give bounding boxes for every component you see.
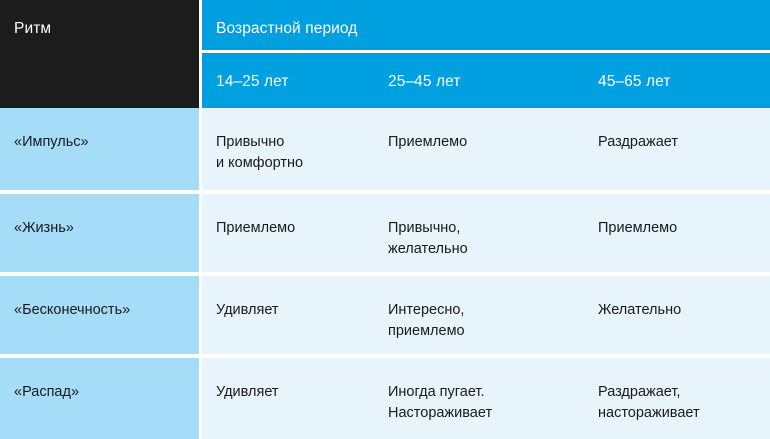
- table-cell: Интересно, приемлемо: [374, 300, 584, 354]
- row-data-group: Удивляет Иногда пугает. Настораживает Ра…: [202, 358, 770, 439]
- row-label-cell: «Жизнь»: [0, 194, 199, 272]
- header-cell-age-25-45: 25–45 лет: [374, 72, 584, 108]
- table-header: Ритм Возрастной период 14–25 лет 25–45 л…: [0, 0, 770, 108]
- row-label-text: «Импульс»: [14, 134, 89, 150]
- table-cell: Привычно и комфортно: [202, 132, 374, 190]
- header-age-columns-row: 14–25 лет 25–45 лет 45–65 лет: [202, 53, 770, 108]
- row-label-text: «Жизнь»: [14, 220, 74, 236]
- table-body: «Импульс» Привычно и комфортно Приемлемо…: [0, 108, 770, 439]
- table-row: «Импульс» Привычно и комфортно Приемлемо…: [0, 108, 770, 190]
- table-cell: Привычно, желательно: [374, 218, 584, 272]
- cell-text: Привычно, желательно: [388, 220, 468, 257]
- table-cell: Удивляет: [202, 382, 374, 439]
- cell-text: Интересно, приемлемо: [388, 302, 465, 339]
- row-label-cell: «Распад»: [0, 358, 199, 439]
- table-row: «Бесконечность» Удивляет Интересно, прие…: [0, 272, 770, 354]
- header-age-group: Возрастной период 14–25 лет 25–45 лет 45…: [202, 0, 770, 108]
- table-row: «Распад» Удивляет Иногда пугает. Настора…: [0, 354, 770, 439]
- row-label-text: «Бесконечность»: [14, 302, 130, 318]
- table-row: «Жизнь» Приемлемо Привычно, желательно П…: [0, 190, 770, 272]
- row-data-group: Удивляет Интересно, приемлемо Желательно: [202, 276, 770, 354]
- row-data-group: Привычно и комфортно Приемлемо Раздражае…: [202, 108, 770, 190]
- table-cell: Приемлемо: [584, 218, 770, 272]
- cell-text: Иногда пугает. Настораживает: [388, 384, 492, 421]
- table-cell: Иногда пугает. Настораживает: [374, 382, 584, 439]
- cell-text: Приемлемо: [216, 220, 295, 236]
- header-age-14-25-label: 14–25 лет: [216, 73, 289, 90]
- table-cell: Удивляет: [202, 300, 374, 354]
- cell-text: Удивляет: [216, 302, 279, 318]
- header-age-group-label: Возрастной период: [216, 20, 357, 37]
- header-age-group-title-row: Возрастной период: [202, 0, 770, 53]
- row-label-cell: «Бесконечность»: [0, 276, 199, 354]
- table-cell: Раздражает, настораживает: [584, 382, 770, 439]
- table-cell: Приемлемо: [202, 218, 374, 272]
- cell-text: Желательно: [598, 302, 681, 318]
- header-rhythm-label: Ритм: [14, 20, 51, 37]
- cell-text: Приемлемо: [388, 134, 467, 150]
- row-data-group: Приемлемо Привычно, желательно Приемлемо: [202, 194, 770, 272]
- header-cell-rhythm: Ритм: [0, 0, 199, 108]
- row-label-text: «Распад»: [14, 384, 79, 400]
- cell-text: Приемлемо: [598, 220, 677, 236]
- header-age-45-65-label: 45–65 лет: [598, 73, 671, 90]
- table-cell: Раздражает: [584, 132, 770, 190]
- table-cell: Приемлемо: [374, 132, 584, 190]
- header-cell-age-14-25: 14–25 лет: [202, 72, 374, 108]
- cell-text: Привычно и комфортно: [216, 134, 303, 171]
- table-cell: Желательно: [584, 300, 770, 354]
- header-age-25-45-label: 25–45 лет: [388, 73, 461, 90]
- comparison-table: Ритм Возрастной период 14–25 лет 25–45 л…: [0, 0, 770, 439]
- cell-text: Удивляет: [216, 384, 279, 400]
- cell-text: Раздражает: [598, 134, 678, 150]
- row-label-cell: «Импульс»: [0, 108, 199, 190]
- cell-text: Раздражает, настораживает: [598, 384, 700, 421]
- header-cell-age-45-65: 45–65 лет: [584, 72, 770, 108]
